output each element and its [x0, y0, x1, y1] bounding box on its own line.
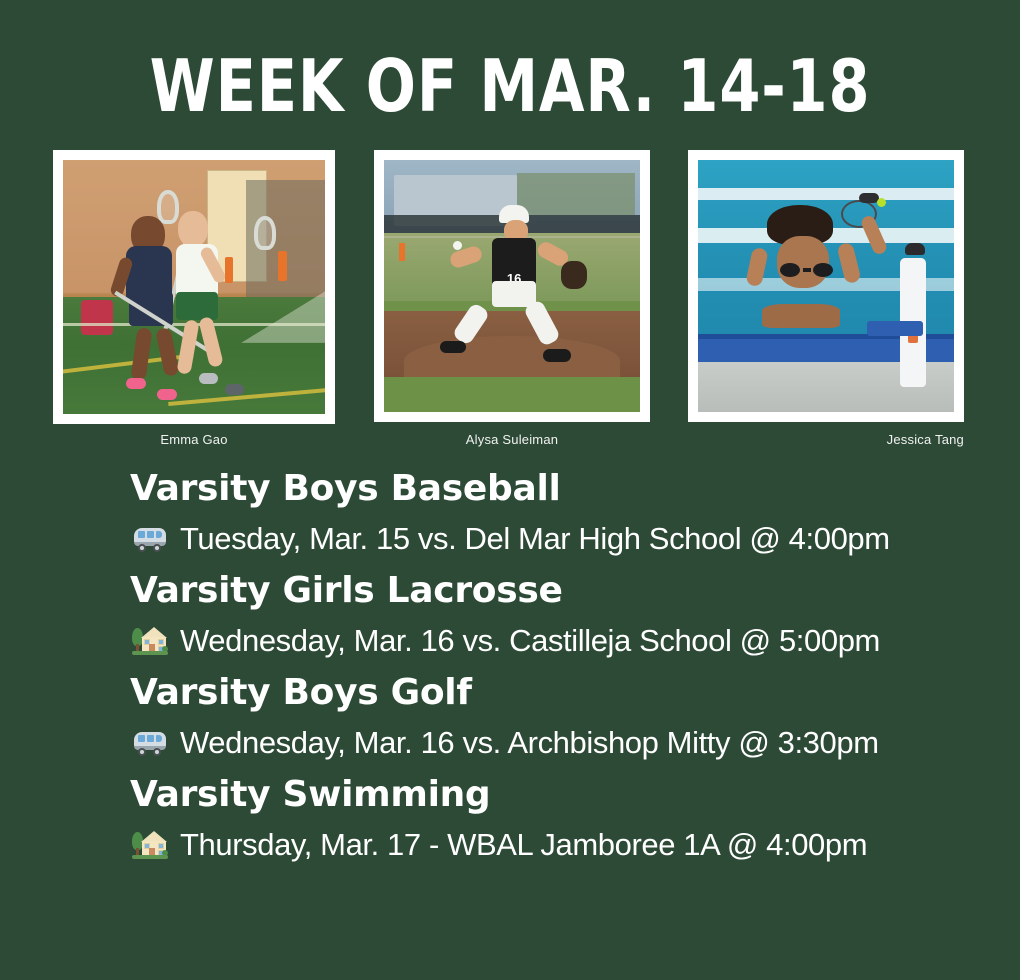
- lacrosse-stick-head: [157, 190, 179, 224]
- photo-card-baseball: 16: [374, 150, 650, 422]
- minibus-icon: [132, 728, 168, 758]
- player-shoe: [126, 378, 146, 389]
- house-with-garden-icon: [132, 830, 168, 860]
- swimmer-shoulders: [762, 304, 840, 328]
- pitcher-cleat: [440, 341, 466, 353]
- event-sport-title: Varsity Boys Golf: [0, 670, 1020, 716]
- event-sport-title: Varsity Boys Baseball: [0, 466, 1020, 512]
- lacrosse-equipment-bag: [81, 300, 112, 336]
- lacrosse-cone: [225, 257, 233, 283]
- player-head: [178, 211, 208, 247]
- sports-schedule-poster: WEEK OF MAR. 14-18: [0, 0, 1020, 980]
- lane-line: [698, 188, 954, 201]
- photo-card-lacrosse: [53, 150, 335, 424]
- goggle-accent: [877, 198, 886, 207]
- photo-baseball: 16: [384, 160, 640, 412]
- photo-gallery: Emma Gao 16: [0, 0, 1020, 460]
- player-shoe: [157, 389, 177, 400]
- event-detail-row: Tuesday, Mar. 15 vs. Del Mar High School…: [0, 512, 1020, 566]
- photo-caption: Alysa Suleiman: [374, 432, 650, 447]
- event-detail-text: Thursday, Mar. 17 - WBAL Jamboree 1A @ 4…: [180, 818, 867, 872]
- photo-lacrosse: [63, 160, 325, 414]
- event-item: Varsity Swimming Thursday, Mar. 17 - WBA…: [0, 772, 1020, 872]
- event-detail-row: Wednesday, Mar. 16 vs. Archbishop Mitty …: [0, 716, 1020, 770]
- pitcher-cleat: [543, 349, 571, 362]
- event-detail-text: Wednesday, Mar. 16 vs. Castilleja School…: [180, 614, 880, 668]
- event-item: Varsity Boys Baseball Tuesday, Mar. 15 v…: [0, 466, 1020, 566]
- house-with-garden-icon: [132, 626, 168, 656]
- swim-goggle-bridge: [803, 268, 811, 272]
- player-shorts: [176, 292, 218, 320]
- event-detail-text: Tuesday, Mar. 15 vs. Del Mar High School…: [180, 512, 890, 566]
- baseball-treeline: [517, 173, 635, 216]
- photo-card-swimming: [688, 150, 964, 422]
- water-bottle-cap: [905, 243, 925, 255]
- event-item: Varsity Girls Lacrosse Wednesday, Mar. 1…: [0, 568, 1020, 668]
- photo-caption: Emma Gao: [53, 432, 335, 447]
- swimmer-face: [777, 236, 829, 288]
- event-detail-text: Wednesday, Mar. 16 vs. Archbishop Mitty …: [180, 716, 879, 770]
- baseball-cone: [399, 243, 405, 261]
- baseball-foreground-grass: [384, 377, 640, 412]
- lacrosse-stick-head: [254, 216, 276, 250]
- event-item: Varsity Boys Golf Wednesday, Mar. 16 vs.…: [0, 670, 1020, 770]
- photo-caption: Jessica Tang: [688, 432, 964, 447]
- baseball: [453, 241, 462, 250]
- minibus-icon: [132, 524, 168, 554]
- player-shoe: [225, 384, 244, 395]
- pitcher-pants: [492, 281, 536, 307]
- event-detail-row: Thursday, Mar. 17 - WBAL Jamboree 1A @ 4…: [0, 818, 1020, 872]
- lacrosse-cone: [278, 251, 287, 281]
- event-sport-title: Varsity Swimming: [0, 772, 1020, 818]
- kickboard: [867, 321, 923, 336]
- pitcher-glove: [561, 261, 587, 289]
- photo-swimming: [698, 160, 954, 412]
- player-shoe: [199, 373, 218, 384]
- event-detail-row: Wednesday, Mar. 16 vs. Castilleja School…: [0, 614, 1020, 668]
- event-sport-title: Varsity Girls Lacrosse: [0, 568, 1020, 614]
- events-list: Varsity Boys Baseball Tuesday, Mar. 15 v…: [0, 466, 1020, 874]
